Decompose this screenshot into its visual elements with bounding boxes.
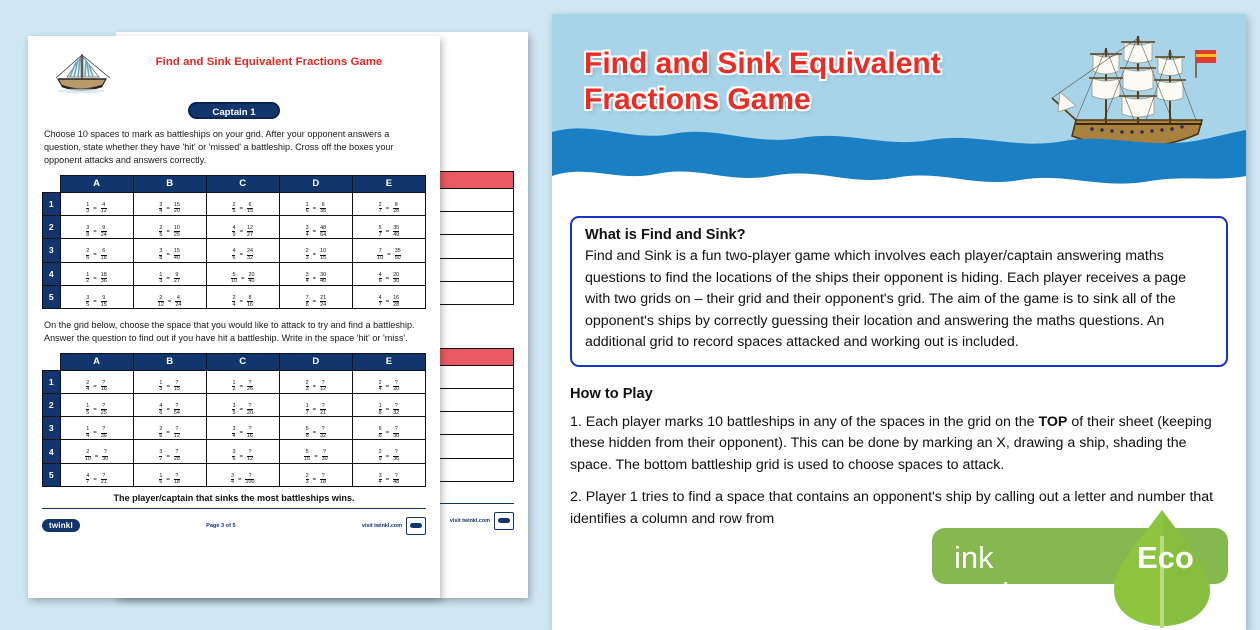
fraction-right: ?18 xyxy=(320,474,326,486)
worksheet-title: Find and Sink Equivalent Fractions Game xyxy=(120,48,418,68)
worksheet-grid-top[interactable]: ABCDE 113=41234=152025=61516=63627=82823… xyxy=(42,175,426,309)
grid-cell-D5[interactable]: 23=?18 xyxy=(279,463,352,486)
equals-sign: = xyxy=(313,454,319,460)
grid-row-header-2: 2 xyxy=(43,215,61,238)
equals-sign: = xyxy=(92,430,98,436)
fraction-right: ?26 xyxy=(247,381,253,393)
fraction-right: ?12 xyxy=(174,427,180,439)
eco-text: ink saving xyxy=(954,540,1044,612)
fraction-left: 210 xyxy=(85,450,91,462)
fraction-equation: 17=?21 xyxy=(306,404,327,416)
fraction-equation: 58=?32 xyxy=(306,427,327,439)
fraction-equation: 25=1025 xyxy=(159,226,180,238)
grid-cell-E4[interactable]: 29=?36 xyxy=(352,440,425,463)
fraction-equation: 57=3549 xyxy=(379,226,400,238)
fraction-equation: 47=1628 xyxy=(379,296,400,308)
equals-sign: = xyxy=(238,229,244,235)
equals-sign: = xyxy=(92,299,98,305)
fraction-right: 4864 xyxy=(320,226,326,238)
fraction-equation: 47=?21 xyxy=(86,474,107,486)
fraction-left: 27 xyxy=(379,203,382,215)
fraction-right: 3549 xyxy=(393,226,399,238)
fraction-left: 34 xyxy=(159,203,162,215)
fraction-left: 78 xyxy=(306,296,309,308)
grid-cell-D4[interactable]: 34=3040 xyxy=(279,262,352,285)
fraction-right: ?12 xyxy=(247,450,253,462)
grid-row[interactable]: 547=?2116=?1834=?10023=?1834=?48 xyxy=(43,463,426,486)
grid-cell-E2[interactable]: 57=3549 xyxy=(352,215,425,238)
fraction-right: ?32 xyxy=(393,404,399,416)
equals-sign: = xyxy=(165,276,171,282)
equals-sign: = xyxy=(312,477,318,483)
grid-row[interactable]: 238=92425=102549=122734=486457=3549 xyxy=(43,215,426,238)
grid-cell-A1[interactable]: 24=?16 xyxy=(60,370,133,393)
fraction-right: 915 xyxy=(101,296,107,308)
equals-sign: = xyxy=(165,206,171,212)
fraction-right: 3040 xyxy=(320,273,326,285)
grid-row-header-5: 5 xyxy=(43,463,61,486)
fraction-equation: 49=1227 xyxy=(232,226,253,238)
fraction-left: 49 xyxy=(232,226,235,238)
fraction-equation: 23=?18 xyxy=(306,474,327,486)
fraction-right: 924 xyxy=(101,226,107,238)
title-banner: Find and Sink Equivalent Fractions Game xyxy=(552,14,1246,202)
equals-sign: = xyxy=(240,276,246,282)
grid-cell-D3[interactable]: 23=1015 xyxy=(279,239,352,262)
worksheet-footer-note: The player/captain that sinks the most b… xyxy=(42,493,426,503)
grid-col-header-d: D xyxy=(279,175,352,192)
fraction-left: 38 xyxy=(86,226,89,238)
grid-col-header-e: E xyxy=(352,175,425,192)
fraction-equation: 210=?30 xyxy=(85,450,109,462)
page-number: Page 3 of 5 xyxy=(206,523,236,529)
fraction-right: ?16 xyxy=(247,427,253,439)
step1-top-emphasis: TOP xyxy=(1038,414,1067,430)
equals-sign: = xyxy=(165,477,171,483)
fraction-left: 24 xyxy=(86,381,89,393)
fraction-right: 424 xyxy=(175,296,181,308)
grid-cell-A4[interactable]: 210=?30 xyxy=(60,440,133,463)
fraction-left: 212 xyxy=(158,296,164,308)
fraction-right: 1520 xyxy=(174,203,180,215)
grid-cell-B1[interactable]: 13=?15 xyxy=(133,370,206,393)
fraction-left: 23 xyxy=(306,249,309,261)
grid-row[interactable]: 412=183613=927510=204034=304046=2030 xyxy=(43,262,426,285)
grid-cell-D2[interactable]: 34=4864 xyxy=(279,215,352,238)
fraction-left: 13 xyxy=(159,381,162,393)
worksheet-instruction-bottom: On the grid below, choose the space that… xyxy=(44,319,424,345)
equals-sign: = xyxy=(165,407,171,413)
fraction-equation: 515=?30 xyxy=(304,450,328,462)
grid-col-header-e: E xyxy=(352,353,425,370)
how-to-play-heading: How to Play xyxy=(570,386,1228,402)
grid-cell-C2[interactable]: 49=1227 xyxy=(206,215,279,238)
fraction-left: 34 xyxy=(306,226,309,238)
fraction-right: ?28 xyxy=(174,450,180,462)
fraction-right: ?48 xyxy=(393,474,399,486)
fraction-left: 46 xyxy=(379,273,382,285)
fraction-left: 37 xyxy=(159,450,162,462)
fraction-equation: 27=828 xyxy=(379,203,400,215)
fraction-left: 13 xyxy=(86,203,89,215)
grid-col-header-a: A xyxy=(60,353,133,370)
fraction-equation: 13=?15 xyxy=(159,381,180,393)
equals-sign: = xyxy=(385,454,391,460)
grid-cell-B3[interactable]: 38=1540 xyxy=(133,239,206,262)
fraction-right: ?100 xyxy=(245,474,254,486)
equals-sign: = xyxy=(167,299,173,305)
fraction-left: 34 xyxy=(231,474,234,486)
grid-cell-D1[interactable]: 23=?12 xyxy=(279,370,352,393)
equals-sign: = xyxy=(238,206,244,212)
fraction-right: ?12 xyxy=(320,381,326,393)
grid-row-header-1: 1 xyxy=(43,192,61,215)
worksheet-preview-stack[interactable]: actions Game our opponent a battleship. … xyxy=(28,28,528,602)
card-heading: What is Find and Sink? xyxy=(585,227,1213,243)
fraction-left: 34 xyxy=(379,474,382,486)
fraction-equation: 37=?28 xyxy=(159,450,180,462)
equals-sign: = xyxy=(238,430,244,436)
grid-cell-D5[interactable]: 78=2124 xyxy=(279,285,352,308)
fraction-left: 515 xyxy=(304,450,310,462)
grid-cell-A1[interactable]: 13=412 xyxy=(60,192,133,215)
equals-sign: = xyxy=(312,384,318,390)
fraction-equation: 16=?18 xyxy=(159,474,180,486)
fraction-left: 13 xyxy=(159,273,162,285)
fraction-right: 1628 xyxy=(393,296,399,308)
fraction-left: 23 xyxy=(306,474,309,486)
fraction-equation: 12=?26 xyxy=(232,381,253,393)
flag-icon xyxy=(1196,50,1216,78)
grid-cell-A2[interactable]: 38=924 xyxy=(60,215,133,238)
fraction-right: 1836 xyxy=(101,273,107,285)
grid-cell-C5[interactable]: 34=?100 xyxy=(206,463,279,486)
fraction-right: ?30 xyxy=(322,450,328,462)
fraction-right: ?36 xyxy=(393,450,399,462)
equals-sign: = xyxy=(312,252,318,258)
fraction-equation: 34=1520 xyxy=(159,203,180,215)
grid-corner xyxy=(43,175,61,192)
fraction-equation: 510=2040 xyxy=(231,273,255,285)
equals-sign: = xyxy=(237,477,243,483)
fraction-right: 828 xyxy=(393,203,399,215)
equals-sign: = xyxy=(312,430,318,436)
fraction-left: 38 xyxy=(159,249,162,261)
fraction-equation: 13=927 xyxy=(159,273,180,285)
fraction-right: ?25 xyxy=(101,404,107,416)
grid-cell-B5[interactable]: 16=?18 xyxy=(133,463,206,486)
twinkl-mark-icon xyxy=(406,517,426,535)
sailing-ship-icon xyxy=(42,48,120,98)
fraction-equation: 24=816 xyxy=(232,296,253,308)
grid-row[interactable]: 326=61838=154046=243223=1015710=3550 xyxy=(43,239,426,262)
fraction-right: 2040 xyxy=(248,273,254,285)
equals-sign: = xyxy=(92,407,98,413)
grid-cell-D1[interactable]: 16=636 xyxy=(279,192,352,215)
how-to-play-step-1: 1. Each player marks 10 battleships in a… xyxy=(570,412,1228,477)
fraction-right: 1025 xyxy=(174,226,180,238)
equals-sign: = xyxy=(385,407,391,413)
grid-row-header-2: 2 xyxy=(43,393,61,416)
grid-row[interactable]: 113=41234=152025=61516=63627=828 xyxy=(43,192,426,215)
grid-cell-C4[interactable]: 36=?12 xyxy=(206,440,279,463)
fraction-equation: 12=1836 xyxy=(86,273,107,285)
fraction-right: 1540 xyxy=(174,249,180,261)
equals-sign: = xyxy=(165,229,171,235)
fraction-left: 16 xyxy=(306,203,309,215)
grid-col-header-a: A xyxy=(60,175,133,192)
fraction-right: 3550 xyxy=(395,249,401,261)
fraction-equation: 23=?12 xyxy=(306,381,327,393)
grid-cell-C4[interactable]: 510=2040 xyxy=(206,262,279,285)
fraction-right: 636 xyxy=(320,203,326,215)
equals-sign: = xyxy=(165,252,171,258)
fraction-right: ?20 xyxy=(247,404,253,416)
grid-cell-E4[interactable]: 46=2030 xyxy=(352,262,425,285)
fraction-right: 2030 xyxy=(393,273,399,285)
worksheet-instruction-top: Choose 10 spaces to mark as battleships … xyxy=(44,128,424,168)
grid-cell-D2[interactable]: 17=?21 xyxy=(279,393,352,416)
grid-col-header-d: D xyxy=(279,353,352,370)
grid-row[interactable]: 4210=?3037=?2836=?12515=?3029=?36 xyxy=(43,440,426,463)
fraction-left: 14 xyxy=(86,427,89,439)
grid-cell-A3[interactable]: 26=618 xyxy=(60,239,133,262)
grid-row[interactable]: 535=915212=42424=81678=212447=1628 xyxy=(43,285,426,308)
card-body: Find and Sink is a fun two-player game w… xyxy=(585,246,1213,354)
fraction-equation: 66=?30 xyxy=(379,427,400,439)
fraction-equation: 24=?20 xyxy=(379,381,400,393)
fraction-left: 710 xyxy=(377,249,383,261)
grid-row[interactable]: 124=?1613=?1512=?2623=?1224=?20 xyxy=(43,370,426,393)
fraction-left: 36 xyxy=(232,450,235,462)
worksheet-front-page[interactable]: Find and Sink Equivalent Fractions Game … xyxy=(28,36,440,598)
fraction-left: 47 xyxy=(379,296,382,308)
worksheet-footer: twinkl Page 3 of 5 visit twinkl.com xyxy=(42,513,426,539)
fraction-equation: 78=2124 xyxy=(306,296,327,308)
fraction-left: 24 xyxy=(379,381,382,393)
fraction-left: 25 xyxy=(159,226,162,238)
grid-corner xyxy=(43,353,61,370)
equals-sign: = xyxy=(92,276,98,282)
grid-row[interactable]: 314=?3626=?1234=?1658=?3266=?30 xyxy=(43,417,426,440)
fraction-right: ?20 xyxy=(393,381,399,393)
fraction-left: 17 xyxy=(306,404,309,416)
fraction-left: 34 xyxy=(232,427,235,439)
fraction-right: ?36 xyxy=(101,427,107,439)
equals-sign: = xyxy=(385,229,391,235)
fraction-left: 16 xyxy=(159,474,162,486)
grid-cell-D3[interactable]: 58=?32 xyxy=(279,417,352,440)
grid-cell-B4[interactable]: 37=?28 xyxy=(133,440,206,463)
fraction-equation: 46=?54 xyxy=(159,404,180,416)
worksheet-footer-rule xyxy=(42,508,426,509)
fraction-left: 58 xyxy=(306,427,309,439)
equals-sign: = xyxy=(238,252,244,258)
fraction-equation: 25=615 xyxy=(232,203,253,215)
fraction-right: ?30 xyxy=(393,427,399,439)
fraction-left: 47 xyxy=(86,474,89,486)
fraction-equation: 34=4864 xyxy=(306,226,327,238)
grid-cell-B3[interactable]: 26=?12 xyxy=(133,417,206,440)
grid-cell-E5[interactable]: 47=1628 xyxy=(352,285,425,308)
fraction-right: ?15 xyxy=(174,381,180,393)
equals-sign: = xyxy=(312,407,318,413)
fraction-equation: 26=618 xyxy=(86,249,107,261)
fraction-equation: 13=412 xyxy=(86,203,107,215)
fraction-right: ?18 xyxy=(174,474,180,486)
fraction-left: 25 xyxy=(232,203,235,215)
grid-cell-A2[interactable]: 15=?25 xyxy=(60,393,133,416)
grid-cell-E3[interactable]: 710=3550 xyxy=(352,239,425,262)
equals-sign: = xyxy=(385,299,391,305)
grid-cell-C3[interactable]: 46=2432 xyxy=(206,239,279,262)
equals-sign: = xyxy=(385,206,391,212)
fraction-right: ?21 xyxy=(320,404,326,416)
grid-cell-A5[interactable]: 35=915 xyxy=(60,285,133,308)
grid-row-header-4: 4 xyxy=(43,440,61,463)
fraction-equation: 34=?100 xyxy=(231,474,255,486)
fraction-equation: 46=2030 xyxy=(379,273,400,285)
fraction-right: 412 xyxy=(101,203,107,215)
fraction-left: 66 xyxy=(379,427,382,439)
grid-cell-E3[interactable]: 66=?30 xyxy=(352,417,425,440)
visit-link-text: visit twinkl.com xyxy=(450,518,490,524)
equals-sign: = xyxy=(238,299,244,305)
equals-sign: = xyxy=(165,454,171,460)
fraction-equation: 18=?32 xyxy=(379,404,400,416)
grid-col-header-b: B xyxy=(133,175,206,192)
grid-row-header-3: 3 xyxy=(43,239,61,262)
eco-label: Eco xyxy=(1137,540,1194,576)
equals-sign: = xyxy=(385,276,391,282)
fraction-equation: 34=?16 xyxy=(232,427,253,439)
equals-sign: = xyxy=(312,206,318,212)
fraction-right: ?54 xyxy=(174,404,180,416)
grid-cell-E1[interactable]: 27=828 xyxy=(352,192,425,215)
worksheet-grid-bottom[interactable]: ABCDE 124=?1613=?1512=?2623=?1224=?20215… xyxy=(42,353,426,487)
equals-sign: = xyxy=(92,384,98,390)
grid-cell-B4[interactable]: 13=927 xyxy=(133,262,206,285)
fraction-left: 35 xyxy=(86,296,89,308)
equals-sign: = xyxy=(238,407,244,413)
equals-sign: = xyxy=(238,454,244,460)
grid-row-header-1: 1 xyxy=(43,370,61,393)
fraction-equation: 16=636 xyxy=(306,203,327,215)
twinkl-mark-icon xyxy=(494,512,514,530)
fraction-left: 34 xyxy=(306,273,309,285)
fraction-right: ?21 xyxy=(101,474,107,486)
fraction-equation: 710=3550 xyxy=(377,249,401,261)
grid-cell-B5[interactable]: 212=424 xyxy=(133,285,206,308)
equals-sign: = xyxy=(92,206,98,212)
grid-cell-A5[interactable]: 47=?21 xyxy=(60,463,133,486)
fraction-left: 23 xyxy=(306,381,309,393)
fraction-right: 618 xyxy=(101,249,107,261)
fraction-equation: 26=?12 xyxy=(159,427,180,439)
grid-cell-C1[interactable]: 12=?26 xyxy=(206,370,279,393)
fraction-left: 35 xyxy=(232,404,235,416)
grid-cell-E5[interactable]: 34=?48 xyxy=(352,463,425,486)
grid-row[interactable]: 215=?2546=?5435=?2017=?2118=?32 xyxy=(43,393,426,416)
fraction-left: 46 xyxy=(232,249,235,261)
fraction-equation: 34=?48 xyxy=(379,474,400,486)
grid-cell-E2[interactable]: 18=?32 xyxy=(352,393,425,416)
equals-sign: = xyxy=(385,384,391,390)
fraction-equation: 35=915 xyxy=(86,296,107,308)
equals-sign: = xyxy=(385,477,391,483)
grid-cell-C2[interactable]: 35=?20 xyxy=(206,393,279,416)
equals-sign: = xyxy=(165,384,171,390)
equals-sign: = xyxy=(92,477,98,483)
fraction-equation: 29=?36 xyxy=(379,450,400,462)
grid-cell-D4[interactable]: 515=?30 xyxy=(279,440,352,463)
fraction-left: 46 xyxy=(159,404,162,416)
captain-badge: Captain 1 xyxy=(188,102,280,119)
equals-sign: = xyxy=(385,430,391,436)
fraction-equation: 38=924 xyxy=(86,226,107,238)
grid-col-header-b: B xyxy=(133,353,206,370)
grid-cell-E1[interactable]: 24=?20 xyxy=(352,370,425,393)
visit-twinkl-link[interactable]: visit twinkl.com xyxy=(362,517,426,535)
fraction-right: 927 xyxy=(174,273,180,285)
grid-cell-C1[interactable]: 25=615 xyxy=(206,192,279,215)
twinkl-logo[interactable]: twinkl xyxy=(42,519,80,532)
fraction-left: 12 xyxy=(232,381,235,393)
equals-sign: = xyxy=(312,276,318,282)
fraction-right: 816 xyxy=(247,296,253,308)
equals-sign: = xyxy=(92,252,98,258)
banner-title: Find and Sink Equivalent Fractions Game xyxy=(584,46,1014,118)
grid-cell-A4[interactable]: 12=1836 xyxy=(60,262,133,285)
equals-sign: = xyxy=(312,299,318,305)
fraction-equation: 212=424 xyxy=(158,296,182,308)
grid-col-header-c: C xyxy=(206,175,279,192)
fraction-left: 29 xyxy=(379,450,382,462)
equals-sign: = xyxy=(312,229,318,235)
worksheet-back-visit[interactable]: visit twinkl.com xyxy=(450,512,514,530)
fraction-right: ?32 xyxy=(320,427,326,439)
fraction-equation: 24=?16 xyxy=(86,381,107,393)
grid-cell-C5[interactable]: 24=816 xyxy=(206,285,279,308)
what-is-card: What is Find and Sink? Find and Sink is … xyxy=(570,216,1228,367)
grid-cell-B2[interactable]: 25=1025 xyxy=(133,215,206,238)
fraction-equation: 23=1015 xyxy=(306,249,327,261)
visit-link-text: visit twinkl.com xyxy=(362,523,402,529)
fraction-left: 57 xyxy=(379,226,382,238)
fraction-right: 2124 xyxy=(320,296,326,308)
fraction-left: 24 xyxy=(232,296,235,308)
fraction-equation: 46=2432 xyxy=(232,249,253,261)
equals-sign: = xyxy=(238,384,244,390)
fraction-left: 15 xyxy=(86,404,89,416)
wave-decoration xyxy=(552,110,1246,202)
fraction-right: 2432 xyxy=(247,249,253,261)
fraction-left: 510 xyxy=(231,273,237,285)
step1-part-a: 1. Each player marks 10 battleships in a… xyxy=(570,414,1038,430)
fraction-equation: 38=1540 xyxy=(159,249,180,261)
fraction-right: 1015 xyxy=(320,249,326,261)
grid-col-header-c: C xyxy=(206,353,279,370)
grid-cell-C3[interactable]: 34=?16 xyxy=(206,417,279,440)
grid-cell-A3[interactable]: 14=?36 xyxy=(60,417,133,440)
fraction-left: 18 xyxy=(379,404,382,416)
fraction-right: ?30 xyxy=(102,450,108,462)
grid-cell-B2[interactable]: 46=?54 xyxy=(133,393,206,416)
fraction-equation: 35=?20 xyxy=(232,404,253,416)
equals-sign: = xyxy=(94,454,100,460)
grid-cell-B1[interactable]: 34=1520 xyxy=(133,192,206,215)
fraction-right: ?16 xyxy=(101,381,107,393)
